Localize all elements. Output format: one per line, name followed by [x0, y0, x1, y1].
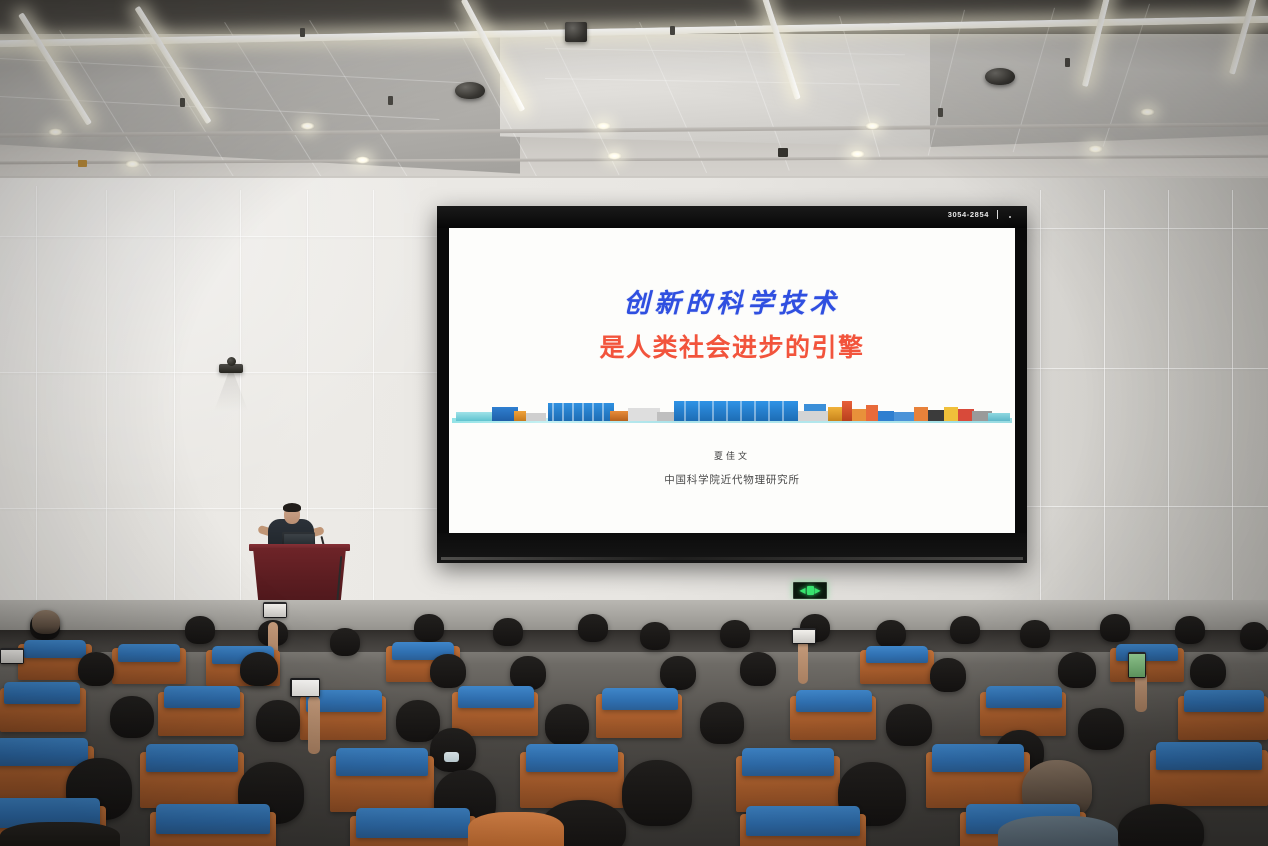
wall-panel-seam [373, 190, 374, 654]
wall-light-falloff [0, 178, 420, 658]
downlight [850, 150, 865, 158]
audience-seat-back[interactable] [1116, 644, 1178, 661]
audience-seat-back[interactable] [746, 806, 860, 836]
audience-head [32, 610, 60, 634]
audience-seat-back[interactable] [602, 688, 678, 710]
accelerator-segment [804, 404, 826, 411]
audience-seat-back[interactable] [1156, 742, 1262, 770]
accelerator-segment [914, 407, 928, 421]
audience-head [430, 728, 476, 772]
audience-head [886, 704, 932, 746]
audience-seat-back[interactable] [164, 686, 240, 708]
audience-seat-back[interactable] [356, 808, 470, 838]
sprinkler-head [300, 28, 305, 37]
audience-head [876, 620, 906, 648]
downlight [596, 122, 611, 130]
accelerator-segment [657, 412, 675, 421]
audience-head [1020, 620, 1050, 648]
audience-head [110, 696, 154, 738]
audience-head [414, 614, 444, 642]
sprinkler-head [1065, 58, 1070, 67]
downlight [607, 152, 622, 160]
audience-head [1175, 616, 1205, 644]
slide-title-line1: 创新的科学技术 [449, 283, 1015, 320]
ceiling-device [778, 148, 788, 157]
accelerator-segment [842, 401, 852, 421]
audience-head [330, 628, 360, 656]
audience-seat-back[interactable] [458, 686, 534, 708]
accelerator-rib [592, 403, 594, 421]
audience-phone[interactable] [792, 628, 816, 644]
accelerator-rib [552, 403, 554, 421]
audience-head [545, 704, 589, 746]
accelerator-segment [944, 407, 958, 421]
audience-phone[interactable] [1128, 652, 1146, 678]
accelerator-segment [852, 409, 866, 421]
audience-tablet[interactable] [290, 678, 320, 697]
ceiling [0, 0, 1268, 196]
lecture-hall-photo: 3054-2854 创新的科学技术 是人类社会进步的引擎 [0, 0, 1268, 846]
tablet-screen [292, 680, 319, 696]
accelerator-rib [768, 401, 770, 421]
accelerator-segment [514, 411, 526, 421]
slide-accelerator-image [452, 393, 1012, 429]
ceiling-speaker [455, 82, 485, 99]
downlight [48, 128, 63, 136]
wall-panel-seam [174, 190, 175, 654]
wall-panel-seam [36, 186, 37, 654]
audience-seat-back[interactable] [146, 744, 238, 772]
downlight [300, 122, 315, 130]
accelerator-rib [712, 401, 714, 421]
audience-phone[interactable] [263, 602, 287, 618]
speaker-hair [283, 503, 301, 512]
accelerator-segment [988, 413, 1010, 421]
sprinkler-head [388, 96, 393, 105]
screen-header-dot-icon [1009, 216, 1011, 218]
audience-head [185, 616, 215, 644]
audience-head [493, 618, 523, 646]
audience-head [700, 702, 744, 744]
accelerator-magnet [674, 401, 798, 421]
face-mask [444, 752, 459, 762]
accelerator-rib [754, 401, 756, 421]
accelerator-rib [602, 403, 604, 421]
audience-head [640, 622, 670, 650]
audience-shoulders [998, 816, 1118, 846]
accelerator-rib [684, 401, 686, 421]
raised-arm [308, 696, 320, 754]
accelerator-segment [610, 411, 628, 421]
slide-organization: 中国科学院近代物理研究所 [449, 472, 1015, 487]
audience-head [1118, 804, 1204, 846]
phone-screen [793, 630, 815, 643]
audience-shoulders [0, 822, 120, 846]
audience-head [1190, 654, 1226, 688]
accelerator-segment [878, 411, 894, 421]
wall-panel-seam [1027, 506, 1268, 507]
accelerator-segment [456, 412, 492, 421]
downlight [355, 156, 370, 164]
exit-sign: ◀ ▶ [793, 582, 827, 599]
audience-head [1058, 652, 1096, 688]
projection-screen[interactable]: 3054-2854 创新的科学技术 是人类社会进步的引擎 [437, 206, 1027, 563]
audience-head [1078, 708, 1124, 750]
presentation-slide: 创新的科学技术 是人类社会进步的引擎 [449, 228, 1015, 533]
accelerator-rib [726, 401, 728, 421]
audience-seat-back[interactable] [336, 748, 428, 776]
screen-header-code: 3054-2854 [948, 210, 989, 219]
accelerator-rib [698, 401, 700, 421]
slide-author: 夏佳文 [449, 449, 1015, 462]
audience-head [660, 656, 696, 690]
accelerator-magnet [548, 403, 614, 421]
raised-arm [1135, 672, 1147, 712]
accelerator-rib [740, 401, 742, 421]
audience-seat-back[interactable] [796, 690, 872, 712]
audience-head [256, 700, 300, 742]
audience-seating [0, 600, 1268, 846]
audience-seat-back[interactable] [932, 744, 1024, 772]
audience-head [430, 654, 466, 688]
wall-panel-seam [1027, 368, 1268, 369]
audience-seat-back[interactable] [1184, 690, 1264, 712]
audience-head [510, 656, 546, 690]
raised-arm [798, 640, 808, 684]
downlight [1088, 145, 1103, 153]
audience-seat-back[interactable] [526, 744, 618, 772]
screen-top-frame [437, 206, 1027, 228]
audience-shoulders [468, 812, 564, 846]
audience-head [1240, 622, 1268, 650]
downlight [125, 160, 140, 168]
audience-phone[interactable] [0, 648, 24, 664]
phone-screen [1129, 654, 1145, 677]
phone-screen [1, 650, 23, 663]
sprinkler-head [180, 98, 185, 107]
audience-head [78, 652, 114, 686]
sprinkler-head [670, 26, 675, 35]
accelerator-segment [526, 413, 546, 421]
ceiling-projector [565, 22, 587, 42]
audience-seat-back[interactable] [24, 640, 86, 658]
accelerator-rib [572, 403, 574, 421]
exit-running-man-icon [807, 586, 814, 595]
wall-panel-seam [1232, 190, 1233, 654]
audience-seat-back[interactable] [986, 686, 1062, 708]
audience-head [240, 652, 278, 686]
audience-head [622, 760, 692, 826]
wall-panel-seam [1168, 190, 1169, 654]
wall-panel-seam [0, 236, 437, 237]
downlight [865, 122, 880, 130]
phone-screen [264, 604, 286, 617]
screen-header-divider [997, 210, 998, 219]
wall-panel-seam [1040, 190, 1041, 654]
audience-head [578, 614, 608, 642]
audience-seat-back[interactable] [742, 748, 834, 776]
sprinkler-head [938, 108, 943, 117]
audience-seat-back[interactable] [866, 646, 928, 663]
ceiling-speaker [985, 68, 1015, 85]
accelerator-segment [866, 405, 878, 421]
slide-title-line2: 是人类社会进步的引擎 [449, 328, 1015, 364]
audience-seat-back[interactable] [0, 738, 88, 766]
accelerator-segment [828, 407, 842, 421]
audience-head [930, 658, 966, 692]
wall-shadow-right [1008, 178, 1268, 658]
audience-seat-back[interactable] [156, 804, 270, 834]
accelerator-rib [562, 403, 564, 421]
wall-panel-seam [1104, 190, 1105, 654]
audience-head [950, 616, 980, 644]
accelerator-segment [894, 412, 916, 421]
wall-panel-seam [240, 190, 241, 654]
downlight [1140, 108, 1155, 116]
audience-head [1100, 614, 1130, 642]
audience-seat-back[interactable] [4, 682, 80, 704]
audience-head [720, 620, 750, 648]
ceiling-spotlight [78, 160, 87, 167]
exit-arrow-left-icon: ◀ [799, 587, 805, 595]
ceiling-beam [0, 155, 1268, 165]
wall-panel-seam [0, 508, 437, 509]
screen-bottom-frame [437, 533, 1027, 563]
accelerator-segment [628, 408, 660, 421]
wall-panel-seam [106, 190, 107, 654]
accelerator-rib [582, 403, 584, 421]
accelerator-segment [798, 411, 828, 421]
audience-head [740, 652, 776, 686]
audience-seat-back[interactable] [118, 644, 180, 662]
wall-panel-seam [1027, 228, 1268, 229]
wall-camera-lens-icon [227, 357, 236, 366]
exit-arrow-right-icon: ▶ [815, 587, 821, 595]
accelerator-rib [782, 401, 784, 421]
